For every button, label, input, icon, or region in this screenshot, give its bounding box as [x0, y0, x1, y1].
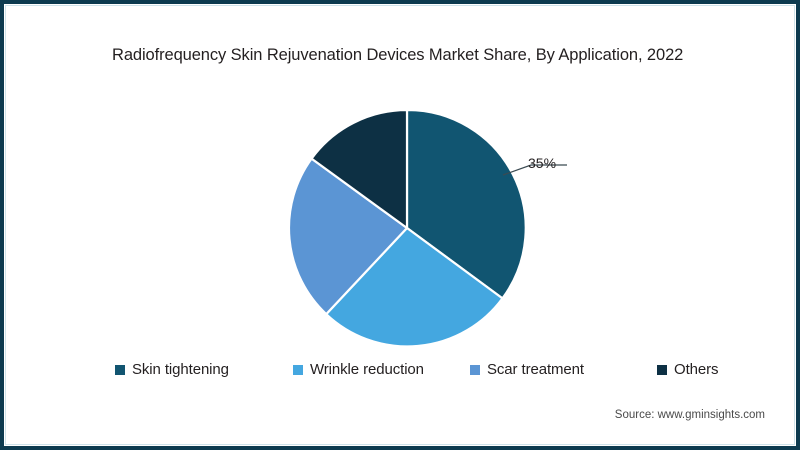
pie-data-label-skin-tightening: 35% [528, 155, 556, 171]
pie-svg [289, 110, 525, 346]
legend-item-others[interactable]: Others [657, 361, 718, 378]
legend-item-skin-tightening[interactable]: Skin tightening [115, 361, 229, 378]
legend-item-scar-treatment[interactable]: Scar treatment [470, 361, 584, 378]
chart-legend: Skin tightening Wrinkle reduction Scar t… [115, 361, 735, 383]
chart-title: Radiofrequency Skin Rejuvenation Devices… [112, 45, 752, 66]
legend-label: Skin tightening [132, 361, 229, 378]
legend-item-wrinkle-reduction[interactable]: Wrinkle reduction [293, 361, 424, 378]
legend-swatch-icon [470, 365, 480, 375]
chart-figure: Radiofrequency Skin Rejuvenation Devices… [0, 0, 800, 450]
legend-swatch-icon [657, 365, 667, 375]
pie-chart [289, 110, 525, 346]
legend-swatch-icon [115, 365, 125, 375]
legend-label: Scar treatment [487, 361, 584, 378]
legend-swatch-icon [293, 365, 303, 375]
chart-canvas: Radiofrequency Skin Rejuvenation Devices… [7, 7, 793, 443]
legend-label: Wrinkle reduction [310, 361, 424, 378]
legend-label: Others [674, 361, 718, 378]
source-attribution: Source: www.gminsights.com [615, 409, 765, 421]
